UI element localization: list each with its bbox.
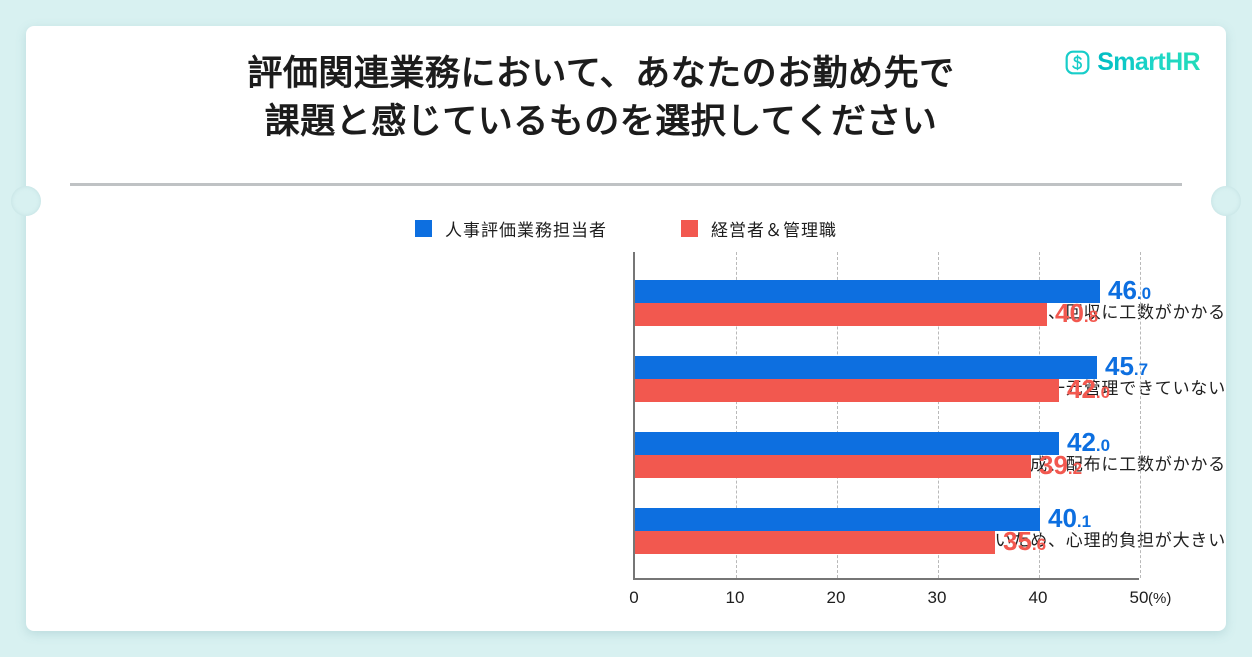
legend-item-series-1: 人事評価業務担当者 bbox=[415, 216, 607, 241]
bar-series-1 bbox=[635, 432, 1059, 455]
bar-group: 40.1 35.6 bbox=[635, 508, 1139, 554]
plot-area: 46.0 40.8 45.7 42.0 42.0 39.2 40 bbox=[633, 252, 1139, 580]
xtick-20: 20 bbox=[827, 588, 846, 608]
bar-series-2 bbox=[635, 303, 1047, 326]
bar-group: 45.7 42.0 bbox=[635, 356, 1139, 402]
value-label-series-2: 40.8 bbox=[1047, 302, 1098, 329]
page-title-line-1: 評価関連業務において、あなたのお勤め先で bbox=[106, 50, 1096, 98]
page-title-line-2: 課題と感じているものを選択してください bbox=[106, 98, 1096, 146]
value-label-series-1: 46.0 bbox=[1100, 279, 1151, 306]
axis-unit-label: (%) bbox=[1148, 590, 1171, 607]
bar-series-2 bbox=[635, 379, 1059, 402]
slide-card: 評価関連業務において、あなたのお勤め先で 課題と感じているものを選択してください… bbox=[26, 26, 1226, 631]
legend-label-series-2: 経営者＆管理職 bbox=[711, 216, 837, 241]
xtick-30: 30 bbox=[928, 588, 947, 608]
value-label-series-2: 42.0 bbox=[1059, 378, 1110, 405]
xtick-10: 10 bbox=[726, 588, 745, 608]
value-label-series-2: 39.2 bbox=[1031, 454, 1082, 481]
legend-item-series-2: 経営者＆管理職 bbox=[681, 216, 837, 241]
value-label-series-1: 40.1 bbox=[1040, 507, 1091, 534]
card-notch-right bbox=[1211, 186, 1241, 216]
legend-label-series-1: 人事評価業務担当者 bbox=[445, 216, 607, 241]
legend-swatch-blue-icon bbox=[415, 220, 432, 237]
smarthr-s-mark-icon bbox=[1065, 50, 1090, 75]
smarthr-wordmark: SmartHR bbox=[1097, 48, 1200, 77]
xtick-50: 50 bbox=[1130, 588, 1149, 608]
xtick-40: 40 bbox=[1029, 588, 1048, 608]
bar-series-1 bbox=[635, 508, 1040, 531]
bar-chart: 評価シートの準備、配布、回収に工数がかかる 過去の評価データが一元管理できていな… bbox=[26, 252, 1226, 622]
smarthr-logo: SmartHR bbox=[1065, 48, 1200, 77]
bar-series-1 bbox=[635, 280, 1100, 303]
bar-group: 46.0 40.8 bbox=[635, 280, 1139, 326]
header-divider bbox=[70, 183, 1182, 186]
xtick-0: 0 bbox=[629, 588, 638, 608]
bar-series-2 bbox=[635, 455, 1031, 478]
bar-series-1 bbox=[635, 356, 1097, 379]
bar-series-2 bbox=[635, 531, 995, 554]
legend-swatch-red-icon bbox=[681, 220, 698, 237]
bar-group: 42.0 39.2 bbox=[635, 432, 1139, 478]
chart-legend: 人事評価業務担当者 経営者＆管理職 bbox=[26, 216, 1226, 241]
card-notch-left bbox=[11, 186, 41, 216]
value-label-series-2: 35.6 bbox=[995, 530, 1046, 557]
page-title: 評価関連業務において、あなたのお勤め先で 課題と感じているものを選択してください bbox=[26, 50, 1226, 147]
